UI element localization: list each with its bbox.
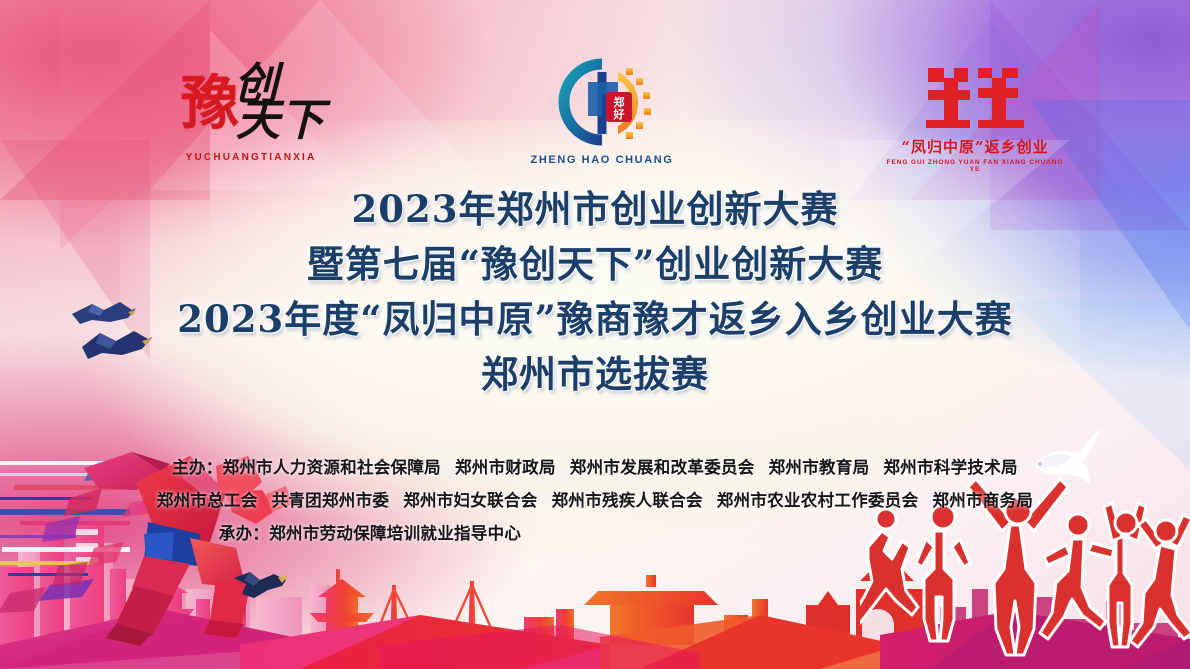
brush-chars-tianxia: 天下 [236,98,324,144]
svg-text:好: 好 [613,107,625,121]
undertaker-org: 郑州市劳动保障培训就业指导中心 [269,525,521,543]
logo-pinyin-zhenghaochuang: ZHENG HAO CHUANG [527,154,677,166]
host-org-2: 郑州市财政局 [455,459,556,477]
title-line-4: 郑州市选拔赛 [0,347,1190,402]
title-line-3: 2023年度“凤归中原”豫商豫才返乡入乡创业大赛 [0,292,1190,347]
logo-chinese-fengguizhongyuan: “凤归中原”返乡创业 [886,136,1064,157]
logo-pinyin-yuchuangtianxia: YUCHUANGTIANXIA [176,152,326,163]
dark-bird-icon [232,568,290,602]
title-line-2: 暨第七届“豫创天下”创业创新大赛 [0,237,1190,292]
fgz-mark-artwork [920,58,1030,132]
host-org-4: 郑州市教育局 [769,459,870,477]
seal-char-yu: 豫 [180,66,240,140]
logo-feng-gui-zhong-yuan: “凤归中原”返乡创业 FENG GUI ZHONG YUAN FAN XIANG… [886,58,1064,176]
host-org-8: 郑州市妇女联合会 [403,492,537,510]
host-org-6: 郑州市总工会 [157,492,258,510]
yuchuang-artwork: 豫 创 天下 [176,62,326,150]
organizers-block: 主办：郑州市人力资源和社会保障局郑州市财政局郑州市发展和改革委员会郑州市教育局郑… [0,452,1190,551]
undertaker-label: 承办： [219,525,269,543]
host-line-1: 主办：郑州市人力资源和社会保障局郑州市财政局郑州市发展和改革委员会郑州市教育局郑… [0,452,1190,485]
zhc-mark-artwork: 郑 好 [550,56,654,150]
host-org-11: 郑州市商务局 [932,492,1033,510]
host-org-9: 郑州市残疾人联合会 [552,492,703,510]
host-org-10: 郑州市农业农村工作委员会 [717,492,919,510]
host-org-5: 郑州市科学技术局 [883,459,1017,477]
host-label: 主办： [172,459,222,477]
logo-row: 豫 创 天下 YUCHUANGTIANXIA [0,48,1190,173]
host-line-2: 郑州市总工会共青团郑州市委郑州市妇女联合会郑州市残疾人联合会郑州市农业农村工作委… [0,485,1190,518]
host-org-3: 郑州市发展和改革委员会 [570,459,755,477]
host-org-1: 郑州市人力资源和社会保障局 [223,459,441,477]
poster-title-block: 2023年郑州市创业创新大赛 暨第七届“豫创天下”创业创新大赛 2023年度“凤… [0,182,1190,402]
svg-text:郑: 郑 [614,95,625,109]
logo-zheng-hao-chuang: 郑 好 ZHENG HAO CHUANG [527,56,677,174]
poster-canvas: 豫 创 天下 YUCHUANGTIANXIA [0,0,1190,669]
title-line-1: 2023年郑州市创业创新大赛 [0,182,1190,237]
logo-pinyin-fengguizhongyuan: FENG GUI ZHONG YUAN FAN XIANG CHUANG YE [886,159,1064,173]
undertaker-line: 承办：郑州市劳动保障培训就业指导中心 [0,518,1190,551]
host-org-7: 共青团郑州市委 [272,492,390,510]
logo-yuchuang-tianxia: 豫 创 天下 YUCHUANGTIANXIA [176,62,326,174]
